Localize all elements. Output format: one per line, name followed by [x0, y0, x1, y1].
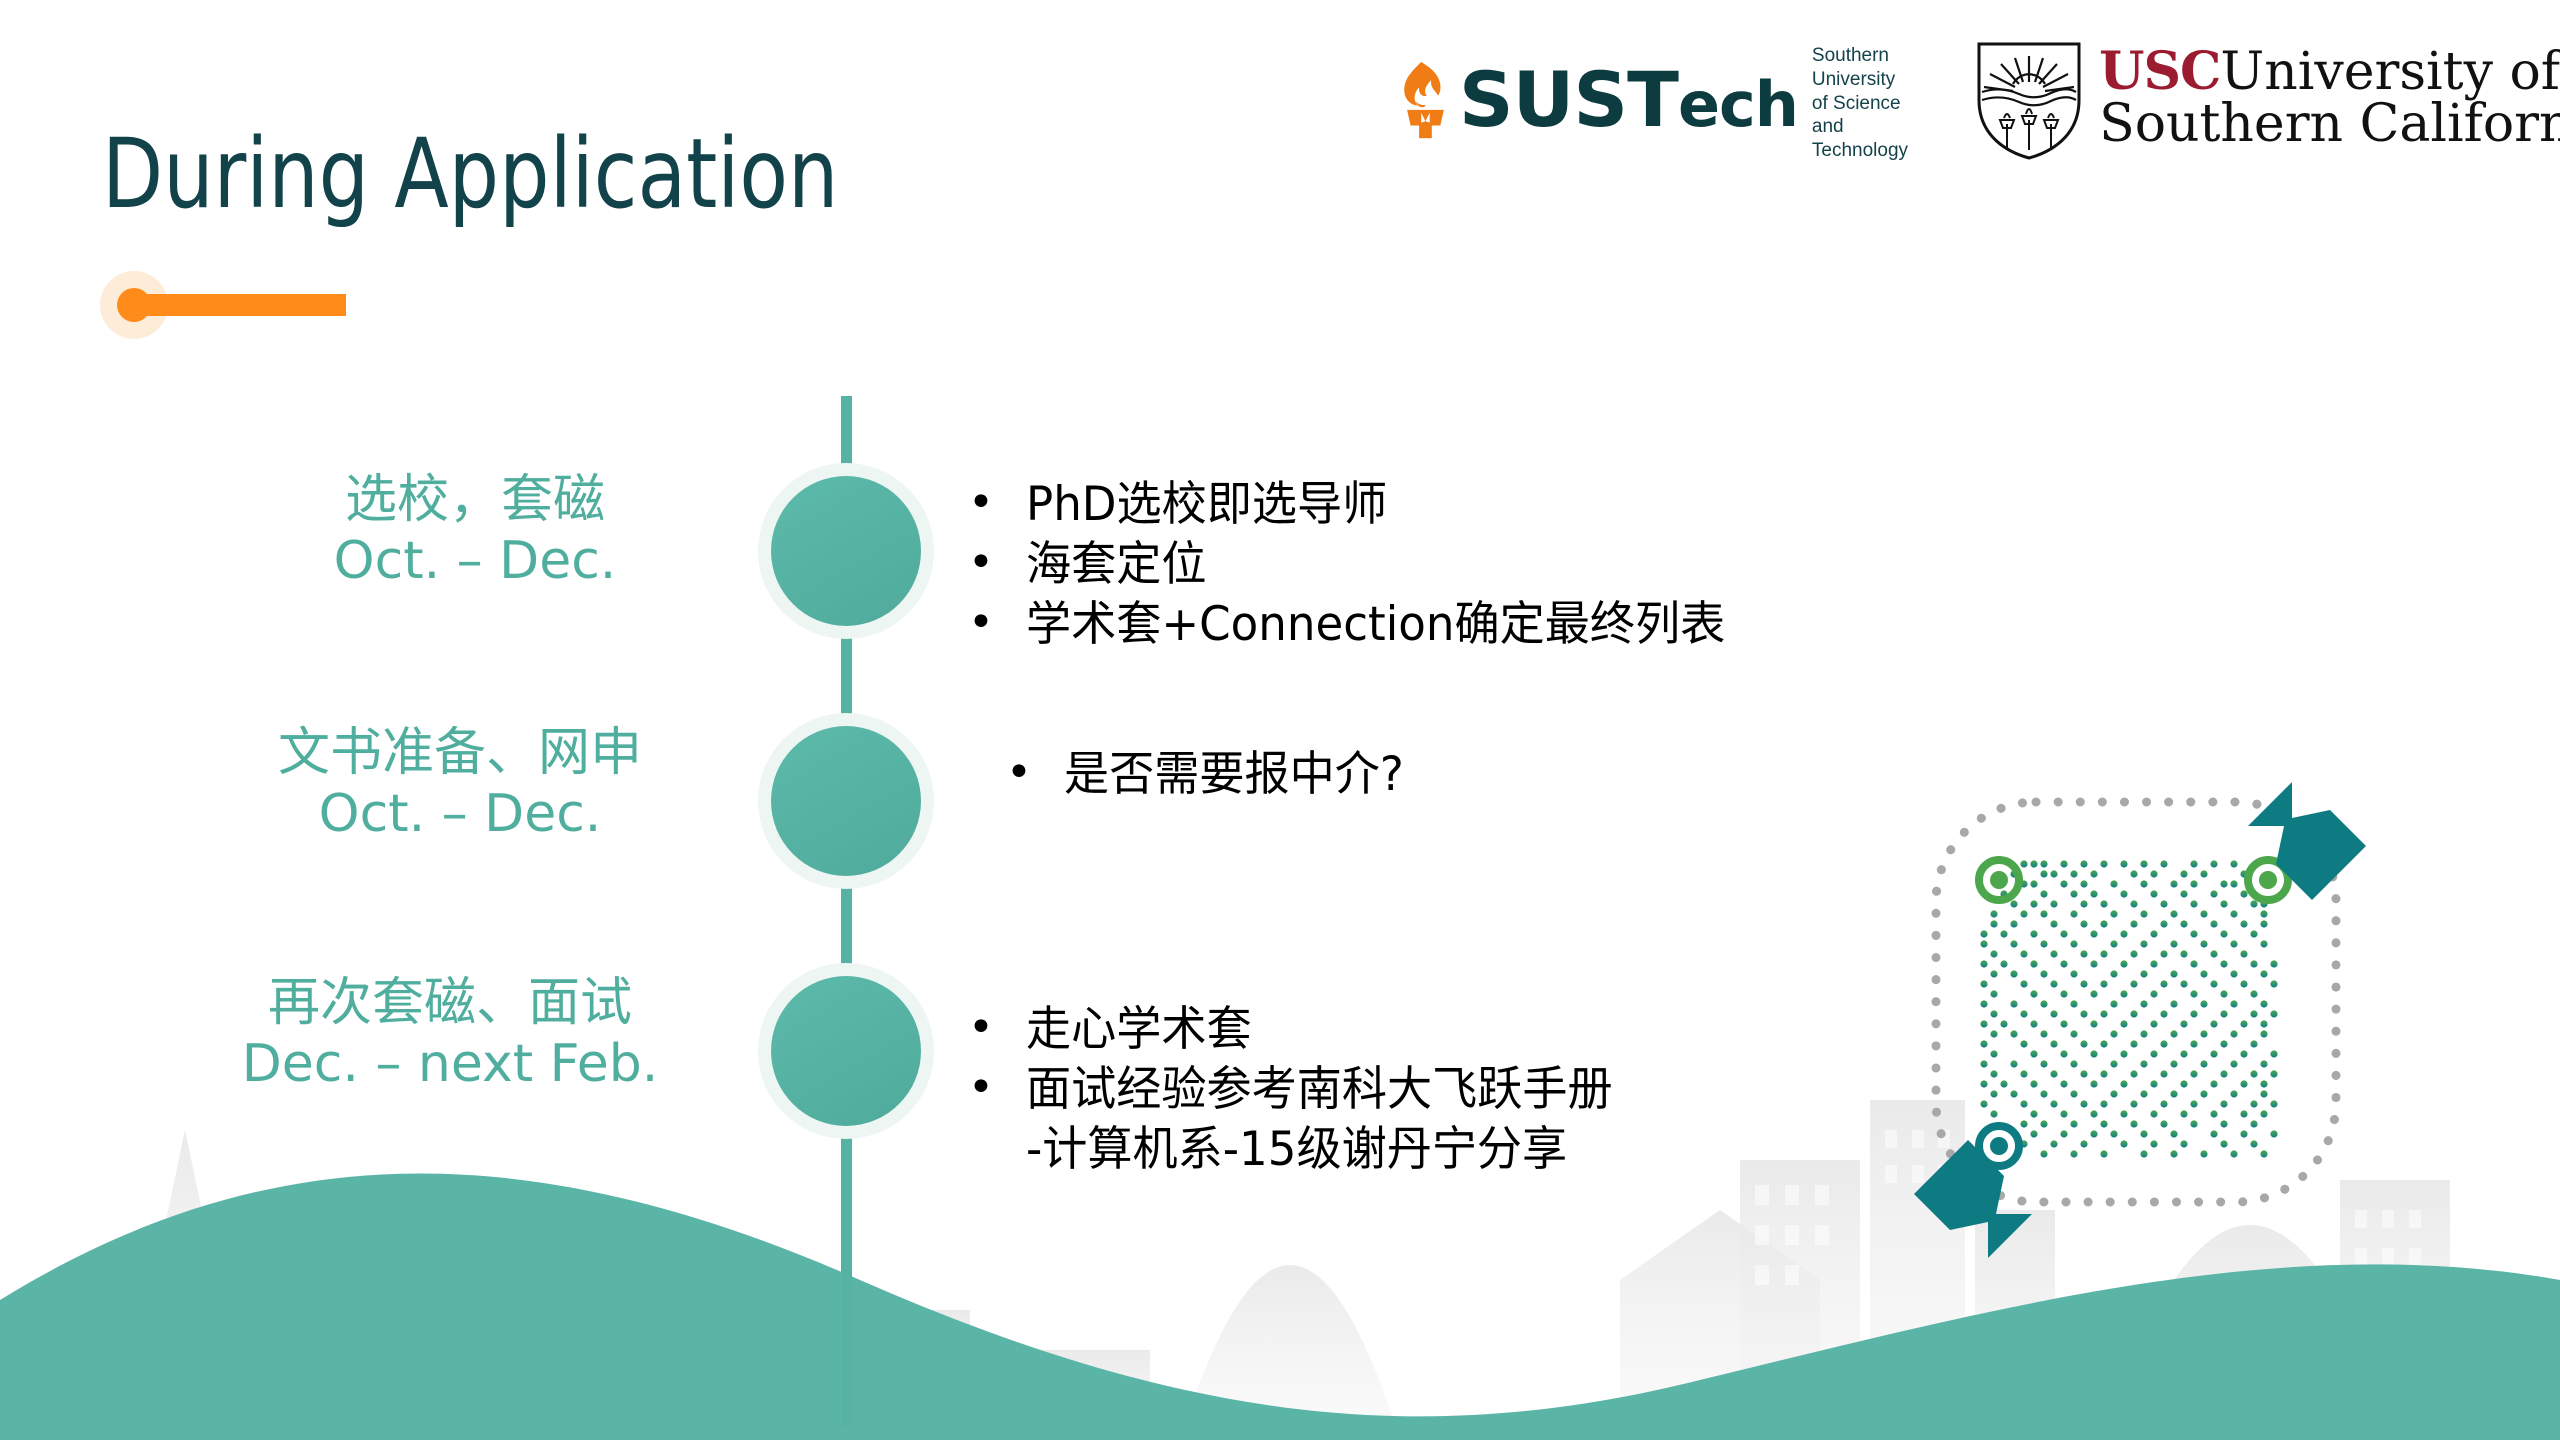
- bullet-item: • 走心学术套: [968, 1000, 1637, 1060]
- sustech-tagline-line3: Technology: [1812, 139, 1929, 163]
- logo-bar: SUSTech Southern University of Science a…: [1400, 38, 2560, 163]
- sustech-logo: SUSTech Southern University of Science a…: [1400, 38, 1929, 163]
- qr-finder-top-left: [1979, 860, 2019, 900]
- timeline-node-dot: [771, 976, 921, 1126]
- bullet-text: 面试经验参考南科大飞跃手册: [1026, 1060, 1613, 1120]
- bullet-item: • 面试经验参考南科大飞跃手册: [968, 1060, 1637, 1120]
- bullet-subline: -计算机系-15级谢丹宁分享: [1026, 1120, 1613, 1180]
- title-accent-bar: [98, 262, 358, 348]
- sustech-tagline: Southern University of Science and Techn…: [1812, 44, 1929, 163]
- bullet-item: • 海套定位: [968, 535, 1754, 595]
- timeline-node-dot: [771, 726, 921, 876]
- sustech-wordmark: SUSTech: [1459, 62, 1798, 138]
- bullet-item: • 是否需要报中介?: [1006, 745, 1418, 805]
- bullet-group-2: • 是否需要报中介?: [1006, 745, 1418, 805]
- stage-label-3-cn: 再次套磁、面试: [190, 973, 710, 1034]
- stage-label-1-en: Oct. – Dec.: [240, 531, 710, 592]
- stage-label-1-cn: 选校，套磁: [240, 470, 710, 531]
- qr-modules: [1980, 860, 2277, 1157]
- stage-label-1: 选校，套磁 Oct. – Dec.: [240, 470, 710, 593]
- bullet-text: 走心学术套: [1026, 1000, 1252, 1060]
- usc-wordmark-line1: USCUniversity of: [2099, 46, 2560, 98]
- bullet-item: • PhD选校即选导师: [968, 475, 1754, 535]
- bullet-marker-icon: •: [968, 595, 1026, 651]
- sustech-torch-icon: [1400, 44, 1451, 156]
- stage-label-2-en: Oct. – Dec.: [210, 784, 710, 845]
- timeline-node-dot: [771, 476, 921, 626]
- stage-label-3-en: Dec. – next Feb.: [190, 1034, 710, 1095]
- usc-shield-icon: [1973, 38, 2085, 160]
- bullet-marker-icon: •: [1006, 745, 1064, 801]
- bullet-marker-icon: •: [968, 535, 1026, 591]
- bullet-text: 是否需要报中介?: [1064, 745, 1404, 805]
- sustech-wordmark-tail: ech: [1678, 68, 1798, 141]
- stage-label-3: 再次套磁、面试 Dec. – next Feb.: [190, 973, 710, 1096]
- usc-line1-rest: University of: [2220, 42, 2560, 102]
- bullet-marker-icon: •: [968, 475, 1026, 531]
- usc-logo: USCUniversity of Southern California: [1973, 38, 2560, 160]
- usc-abbr: USC: [2099, 41, 2220, 102]
- slide-canvas: SUSTech Southern University of Science a…: [0, 0, 2560, 1440]
- bullet-marker-icon: •: [968, 1000, 1026, 1056]
- bullet-group-1: • PhD选校即选导师 • 海套定位 • 学术套+Connection确定最终列…: [968, 475, 1754, 655]
- bullet-item: • 学术套+Connection确定最终列表: [968, 595, 1754, 655]
- bullet-text: 学术套+Connection确定最终列表: [1026, 595, 1725, 655]
- qr-code-panel[interactable]: [1900, 760, 2380, 1280]
- bullet-group-3: • 走心学术套 • 面试经验参考南科大飞跃手册 -计算机系-15级谢丹宁分享: [968, 1000, 1637, 1180]
- bullet-text: PhD选校即选导师: [1026, 475, 1387, 535]
- sustech-tagline-line2: of Science and: [1812, 92, 1929, 140]
- usc-wordmark-line2: Southern California: [2099, 98, 2560, 150]
- bullet-marker-icon: •: [968, 1060, 1026, 1116]
- stage-label-2: 文书准备、网申 Oct. – Dec.: [210, 723, 710, 846]
- sustech-wordmark-main: SUST: [1459, 55, 1678, 144]
- bullet-text: 海套定位: [1026, 535, 1206, 595]
- stage-label-2-cn: 文书准备、网申: [210, 723, 710, 784]
- sustech-tagline-line1: Southern University: [1812, 44, 1929, 92]
- page-title: During Application: [102, 118, 838, 230]
- usc-wordmark: USCUniversity of Southern California: [2099, 38, 2560, 150]
